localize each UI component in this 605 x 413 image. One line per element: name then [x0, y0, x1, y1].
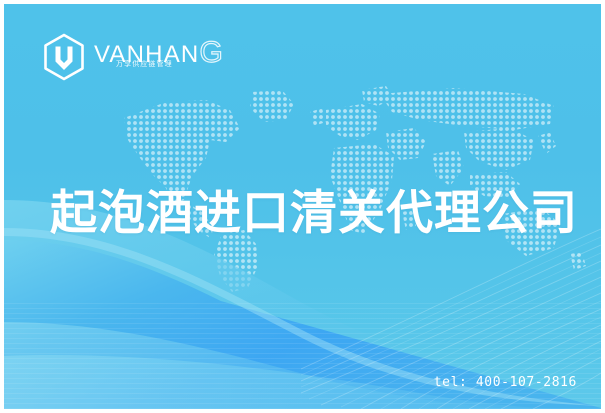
brand-wordmark: VANHANG 万享供应链管理	[94, 40, 223, 74]
hexagon-u-logo-icon	[42, 33, 86, 81]
brand-tagline: 万享供应链管理	[116, 60, 173, 69]
contact-phone: tel: 400-107-2816	[434, 375, 577, 390]
brand-wordmark-tail: G	[199, 36, 222, 69]
page-title: 起泡酒进口清关代理公司	[50, 186, 578, 242]
promo-banner: VANHANG 万享供应链管理 起泡酒进口清关代理公司 tel: 400-107…	[0, 0, 605, 413]
brand-logo: VANHANG 万享供应链管理	[42, 33, 223, 81]
banner-canvas: VANHANG 万享供应链管理 起泡酒进口清关代理公司 tel: 400-107…	[4, 4, 601, 409]
